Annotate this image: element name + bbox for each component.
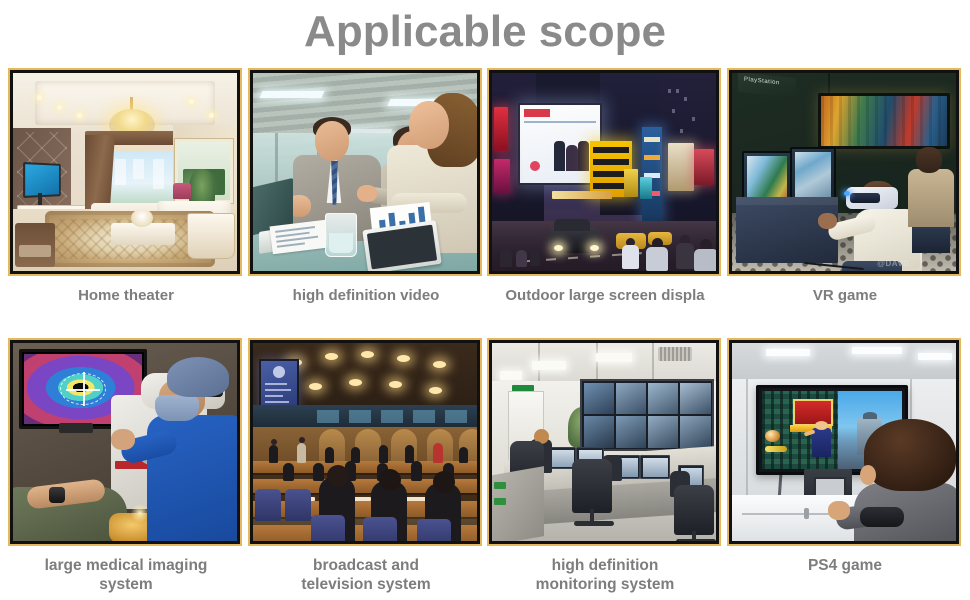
conference-chair xyxy=(255,489,281,521)
conference-chair xyxy=(417,519,451,541)
scope-tile-broadcast-television[interactable]: broadcast and television system xyxy=(248,338,484,594)
delegate xyxy=(433,443,443,463)
chair-base xyxy=(676,539,716,541)
photo-vr-booth: PlayStation xyxy=(732,73,956,271)
flower-arrangement xyxy=(131,209,153,227)
thumbnail-broadcast-television[interactable] xyxy=(248,338,482,546)
scene-vr-booth: PlayStation xyxy=(732,73,956,271)
billboard-graphic xyxy=(530,161,540,171)
head xyxy=(315,121,349,161)
torso xyxy=(908,169,954,227)
delegate xyxy=(405,445,414,463)
desk-monitor xyxy=(640,455,670,479)
window-building xyxy=(115,159,126,185)
ceiling-light xyxy=(918,353,952,360)
pedestrian xyxy=(646,247,668,271)
cctv-panel xyxy=(584,416,615,448)
downlight-icon xyxy=(209,113,214,118)
thumbnail-vr-game[interactable]: PlayStation xyxy=(727,68,961,276)
attendee-head xyxy=(327,465,349,487)
ceiling-spotlight xyxy=(433,361,446,368)
ceiling-light xyxy=(852,347,902,354)
cctv-panel xyxy=(584,383,615,415)
scope-tile-vr-game[interactable]: PlayStation xyxy=(727,68,963,305)
crosshair-overlay xyxy=(66,372,100,406)
photo-home-theater xyxy=(13,73,237,271)
scene-luxury-living-room xyxy=(13,73,237,271)
blue-tower-display xyxy=(642,127,662,223)
desk-paper xyxy=(405,497,427,501)
background-visitor xyxy=(908,147,954,253)
window-building xyxy=(153,159,164,189)
monitor-right xyxy=(790,147,836,203)
game-banner xyxy=(793,399,833,426)
ceiling-spotlight xyxy=(361,351,374,358)
photo-business-meeting xyxy=(253,73,477,271)
pedestrian xyxy=(694,249,716,271)
vr-headset-led xyxy=(844,191,850,196)
neon-sign xyxy=(494,107,508,151)
downlight-icon xyxy=(77,113,82,118)
delegate xyxy=(313,463,324,481)
monitor-mount xyxy=(59,423,93,433)
ceiling-spotlight xyxy=(325,353,338,360)
counter-post xyxy=(804,508,809,519)
ceiling-light-panel xyxy=(532,361,566,370)
pedestrian xyxy=(622,245,639,269)
ceiling-light xyxy=(766,349,810,356)
photo-times-square xyxy=(492,73,716,271)
delegate-head xyxy=(299,437,305,443)
window-building xyxy=(133,159,144,179)
neon-sign xyxy=(640,177,652,199)
hand xyxy=(818,213,837,229)
conference-chair xyxy=(363,517,397,541)
billboard-figure xyxy=(554,141,565,171)
surgical-mask xyxy=(155,395,199,421)
thumbnail-medical-imaging[interactable] xyxy=(8,338,242,546)
ceiling-light xyxy=(260,91,325,98)
cctv-panel xyxy=(648,383,679,415)
cctv-panel xyxy=(616,416,647,448)
ceiling-spotlight xyxy=(397,355,410,362)
attendee-head xyxy=(379,469,401,491)
tile-caption: large medical imaging system xyxy=(8,556,244,594)
attendee-head xyxy=(433,471,455,493)
neon-sign xyxy=(694,149,714,185)
scope-tile-home-theater[interactable]: Home theater xyxy=(8,68,244,305)
thumbnail-home-theater[interactable] xyxy=(8,68,242,276)
tablet-device xyxy=(362,220,441,271)
surgeon xyxy=(145,357,237,541)
pedestrian xyxy=(516,250,527,267)
game-character xyxy=(812,428,830,456)
headlight xyxy=(590,245,599,251)
ceiling-spotlight xyxy=(349,379,362,386)
scene-conference-hall xyxy=(253,343,477,541)
counter-edge-line xyxy=(742,513,842,515)
delegate xyxy=(411,461,422,481)
photo-ps4-gaming xyxy=(732,343,956,541)
ceiling-light-panel xyxy=(500,371,522,380)
head xyxy=(409,101,449,149)
cctv-panel xyxy=(648,416,679,448)
ceiling-spotlight xyxy=(429,387,442,394)
billboard-logo xyxy=(524,109,550,117)
scene-times-square-night xyxy=(492,73,716,271)
cctv-video-wall xyxy=(580,379,714,451)
photo-control-room xyxy=(492,343,716,541)
scope-tile-ps4-game[interactable]: PS4 game xyxy=(727,338,963,575)
hand xyxy=(828,501,850,520)
status-indicator xyxy=(494,498,506,505)
tile-caption: high definition monitoring system xyxy=(487,556,723,594)
applicable-scope-page: Applicable scope xyxy=(0,0,970,600)
ear xyxy=(860,465,876,485)
tile-caption: Home theater xyxy=(8,286,244,305)
scope-row-2: large medical imaging system xyxy=(0,338,970,598)
air-vent xyxy=(658,347,692,361)
ceiling-spotlight xyxy=(389,381,402,388)
wall-display xyxy=(818,93,950,149)
cctv-panel xyxy=(616,383,647,415)
delegate xyxy=(379,445,388,463)
hand xyxy=(111,429,135,450)
thumbnail-high-definition-video[interactable] xyxy=(248,68,482,276)
scope-tile-outdoor-large-screen[interactable]: Outdoor large screen displa xyxy=(487,68,723,305)
pedestrian xyxy=(676,243,694,269)
downlight-icon xyxy=(57,105,62,110)
armchair xyxy=(15,223,55,267)
delegate xyxy=(459,447,468,463)
wristwatch xyxy=(49,487,65,503)
scene-business-meeting xyxy=(253,73,477,271)
delegate xyxy=(325,447,334,463)
scope-tile-monitoring-system[interactable]: high definition monitoring system xyxy=(487,338,723,594)
surgical-cap xyxy=(167,357,229,397)
wall-seam xyxy=(746,379,748,499)
legs xyxy=(912,223,950,253)
vr-headset xyxy=(846,187,898,209)
cctv-panel xyxy=(680,416,711,448)
downlight-icon xyxy=(37,95,42,100)
billboard-figure xyxy=(578,141,589,171)
thumbnail-ps4-game[interactable] xyxy=(727,338,961,546)
photo-eye-surgery xyxy=(13,343,237,541)
game-health-bar xyxy=(765,446,787,451)
pedestrian xyxy=(500,249,512,267)
head xyxy=(916,147,942,173)
delegate xyxy=(283,463,294,481)
downlight-icon xyxy=(189,99,194,104)
pointing-hand xyxy=(357,185,377,202)
office-chair xyxy=(674,485,714,535)
game-controller xyxy=(860,507,904,527)
tile-caption: VR game xyxy=(727,286,963,305)
chair-base xyxy=(574,521,614,526)
draped-table xyxy=(736,197,838,263)
neon-sign xyxy=(552,191,612,199)
watermark: @DAVG xyxy=(877,259,910,268)
photo-conference-hall xyxy=(253,343,477,541)
water-glass xyxy=(325,213,357,257)
billboard-text xyxy=(524,121,596,123)
headlight xyxy=(554,245,563,251)
tile-caption: broadcast and television system xyxy=(248,556,484,594)
page-title: Applicable scope xyxy=(0,2,970,62)
ceiling-grid-line xyxy=(596,343,598,383)
thumbnail-monitoring-system[interactable] xyxy=(487,338,721,546)
conference-chair xyxy=(285,489,311,521)
conference-chair xyxy=(311,515,345,541)
tv-stand xyxy=(38,193,42,205)
table-lamp xyxy=(173,183,191,199)
tile-caption: high definition video xyxy=(248,286,484,305)
delegate-head xyxy=(271,439,277,445)
scene-control-room xyxy=(492,343,716,541)
ceiling-spotlight xyxy=(309,383,322,390)
office-chair xyxy=(572,459,612,513)
neon-sign xyxy=(494,159,510,193)
cctv-panel xyxy=(680,383,711,415)
scope-row-1: Home theater xyxy=(0,68,970,318)
neon-sign xyxy=(624,169,638,197)
scope-tile-high-definition-video[interactable]: high definition video xyxy=(248,68,484,305)
delegate xyxy=(269,445,278,463)
thumbnail-outdoor-large-screen[interactable] xyxy=(487,68,721,276)
status-indicator xyxy=(494,482,506,489)
projection-screen xyxy=(259,359,299,411)
tile-caption: Outdoor large screen displa xyxy=(487,286,723,305)
side-cabinet xyxy=(187,213,235,259)
scene-ps4-gaming xyxy=(732,343,956,541)
hair xyxy=(864,419,956,491)
scene-eye-surgery xyxy=(13,343,237,541)
ceiling-light-panel xyxy=(596,353,632,362)
billboard-figure xyxy=(566,145,578,171)
tile-caption: PS4 game xyxy=(727,556,963,575)
ceiling-grid-line xyxy=(652,343,654,383)
pedestrian xyxy=(530,250,540,266)
neon-sign xyxy=(668,143,694,191)
delegate xyxy=(297,443,306,463)
scope-tile-medical-imaging[interactable]: large medical imaging system xyxy=(8,338,244,594)
